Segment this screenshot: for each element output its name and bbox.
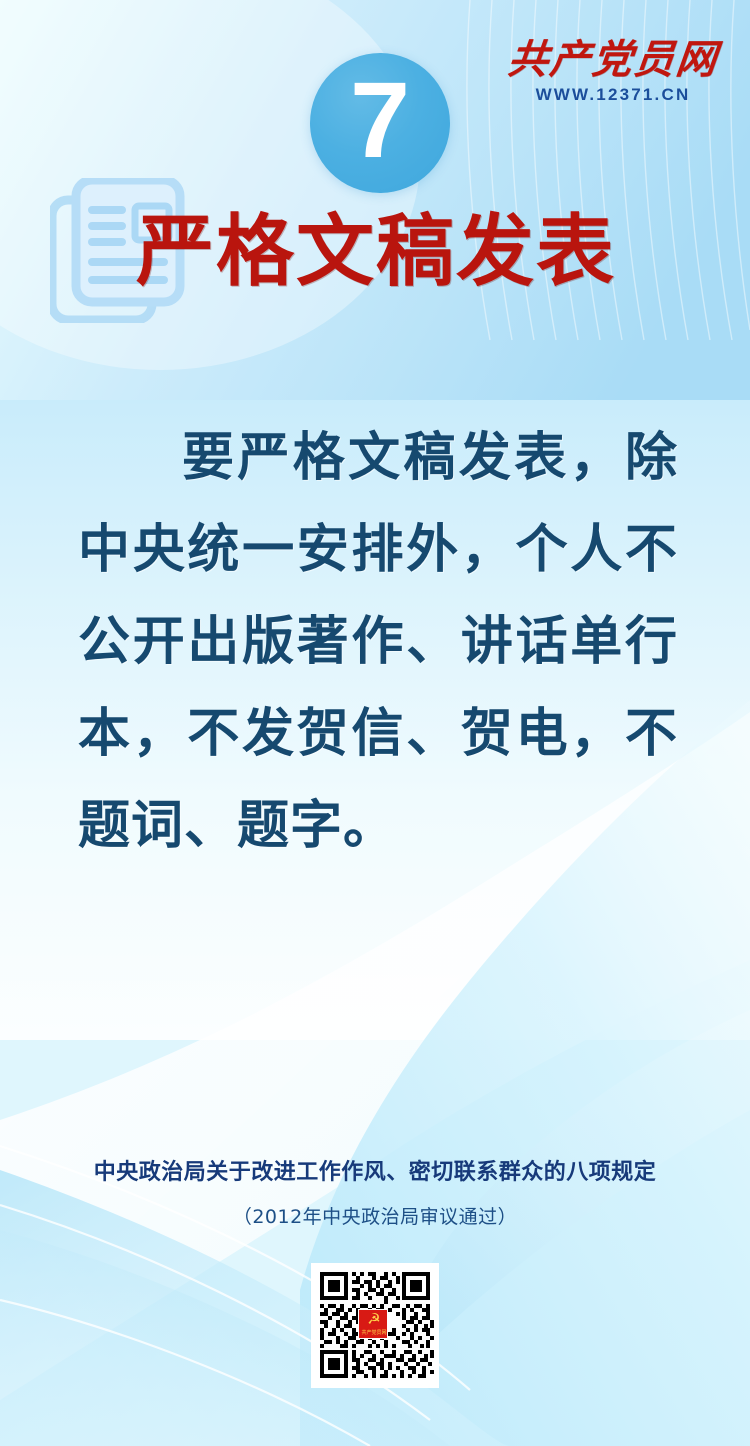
party-emblem-icon: ☭ 共产党员网 [358,1309,388,1339]
site-logo[interactable]: 共产党员网 WWW.12371.CN [498,38,728,116]
number-badge-label: 7 [310,53,450,193]
poster-header: 共产党员网 WWW.12371.CN 7 严格文稿发表 [0,0,750,340]
qr-code[interactable]: ☭ 共产党员网 [311,1263,439,1388]
footer-regulation-title: 中央政治局关于改进工作作风、密切联系群众的八项规定 [0,1157,750,1187]
poster-body-text: 要严格文稿发表，除中央统一安排外，个人不公开出版著作、讲话单行本，不发贺信、贺电… [78,412,678,872]
poster-root: 共产党员网 WWW.12371.CN 7 严格文稿发表 要严格文稿发表，除中央 [0,0,750,1446]
hammer-sickle-glyph: ☭ [364,1312,384,1328]
page-title: 严格文稿发表 [136,198,696,308]
footer-regulation-date: （2012年中央政治局审议通过） [0,1204,750,1230]
number-badge: 7 [310,53,450,193]
party-emblem-caption: 共产党员网 [359,1329,389,1337]
logo-brand-text: 共产党员网 [496,38,731,82]
logo-url-text: WWW.12371.CN [498,85,728,105]
